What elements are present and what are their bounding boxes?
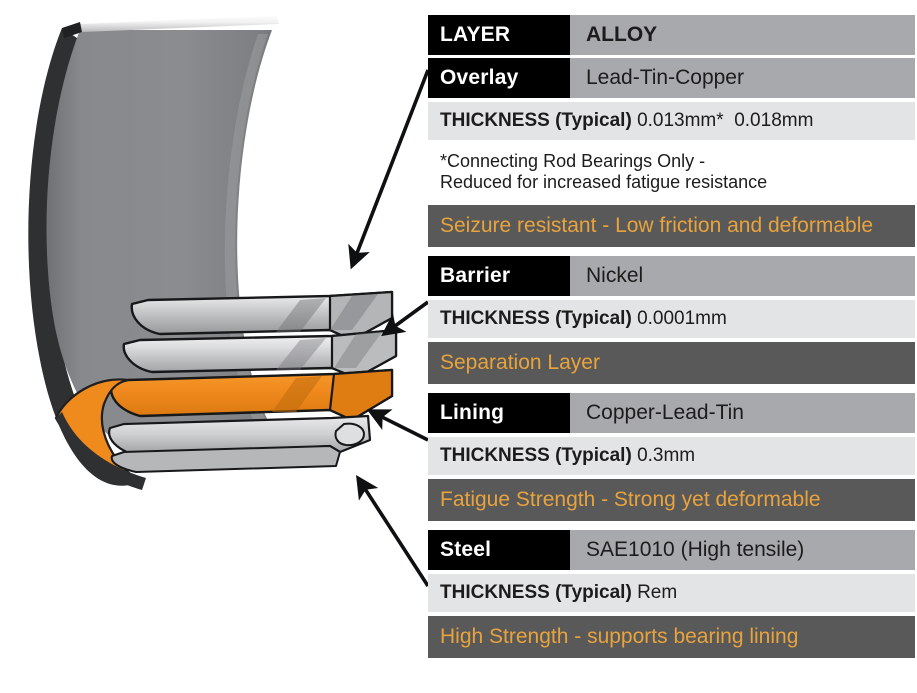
header-layer-label: LAYER	[428, 15, 570, 55]
layer-step-steel	[109, 416, 370, 472]
thickness-label: THICKNESS (Typical)	[440, 445, 637, 467]
layer-step-overlay	[132, 292, 392, 340]
group-spacer	[428, 384, 915, 393]
row-thickness-lining: THICKNESS (Typical) 0.3mm	[428, 437, 915, 475]
layer-alloy-barrier: Nickel	[570, 256, 915, 296]
layer-group-barrier: Barrier Nickel THICKNESS (Typical) 0.000…	[428, 256, 915, 384]
layer-name-barrier: Barrier	[428, 256, 570, 296]
benefit-overlay: Seizure resistant - Low friction and def…	[428, 205, 915, 247]
layer-alloy-overlay: Lead-Tin-Copper	[570, 58, 915, 98]
group-spacer	[428, 521, 915, 530]
footnote-overlay: *Connecting Rod Bearings Only - Reduced …	[428, 144, 915, 201]
layer-spec-table: LAYER ALLOY Overlay Lead-Tin-Copper THIC…	[428, 15, 915, 658]
layer-group-steel: Steel SAE1010 (High tensile) THICKNESS (…	[428, 530, 915, 658]
row-layer-name-overlay: Overlay Lead-Tin-Copper	[428, 58, 915, 98]
table-header-row: LAYER ALLOY	[428, 15, 915, 55]
layer-group-lining: Lining Copper-Lead-Tin THICKNESS (Typica…	[428, 393, 915, 521]
thickness-label: THICKNESS (Typical)	[440, 110, 637, 132]
layer-alloy-lining: Copper-Lead-Tin	[570, 393, 915, 433]
header-alloy-label: ALLOY	[570, 15, 915, 55]
row-thickness-overlay: THICKNESS (Typical) 0.013mm* 0.018mm	[428, 102, 915, 140]
row-thickness-barrier: THICKNESS (Typical) 0.0001mm	[428, 300, 915, 338]
thickness-value-overlay: 0.013mm* 0.018mm	[637, 110, 813, 132]
thickness-value-barrier: 0.0001mm	[637, 308, 727, 330]
group-spacer	[428, 247, 915, 256]
layer-name-steel: Steel	[428, 530, 570, 570]
benefit-lining: Fatigue Strength - Strong yet deformable	[428, 479, 915, 521]
row-layer-name-barrier: Barrier Nickel	[428, 256, 915, 296]
benefit-barrier: Separation Layer	[428, 342, 915, 384]
thickness-value-steel: Rem	[637, 582, 677, 604]
layer-group-overlay: Overlay Lead-Tin-Copper THICKNESS (Typic…	[428, 58, 915, 247]
benefit-steel: High Strength - supports bearing lining	[428, 616, 915, 658]
layer-name-overlay: Overlay	[428, 58, 570, 98]
thickness-label: THICKNESS (Typical)	[440, 308, 637, 330]
row-layer-name-lining: Lining Copper-Lead-Tin	[428, 393, 915, 433]
row-layer-name-steel: Steel SAE1010 (High tensile)	[428, 530, 915, 570]
bearing-shell-illustration	[0, 0, 430, 693]
thickness-value-lining: 0.3mm	[637, 445, 695, 467]
thickness-label: THICKNESS (Typical)	[440, 582, 637, 604]
layer-name-lining: Lining	[428, 393, 570, 433]
layer-alloy-steel: SAE1010 (High tensile)	[570, 530, 915, 570]
row-thickness-steel: THICKNESS (Typical) Rem	[428, 574, 915, 612]
